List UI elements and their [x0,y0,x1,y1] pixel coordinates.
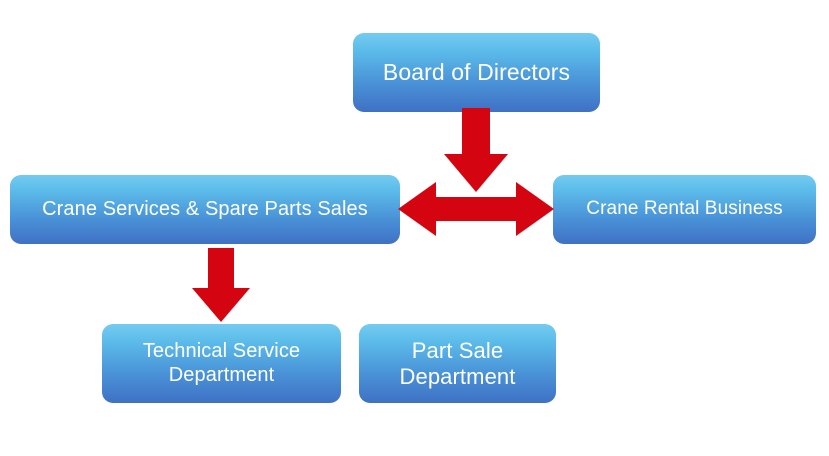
arrow-down-board-to-operations-icon [440,108,512,194]
node-technical-service-department-label: Technical Service Department [133,340,310,387]
arrow-double-headed-services-to-rental-icon [398,180,554,238]
node-crane-rental-business-label: Crane Rental Business [576,198,792,220]
node-board-of-directors-label: Board of Directors [373,59,580,86]
node-crane-services-spare-parts-sales-label: Crane Services & Spare Parts Sales [32,198,378,222]
node-part-sale-department-label: Part Sale Department [390,338,526,390]
node-crane-services-spare-parts-sales: Crane Services & Spare Parts Sales [10,175,400,244]
organization-chart-canvas: Board of Directors Crane Services & Spar… [0,0,829,456]
node-technical-service-department: Technical Service Department [102,324,341,403]
node-board-of-directors: Board of Directors [353,33,600,112]
node-crane-rental-business: Crane Rental Business [553,175,816,244]
arrow-down-services-to-technical-service-icon [188,248,254,324]
node-part-sale-department: Part Sale Department [359,324,556,403]
